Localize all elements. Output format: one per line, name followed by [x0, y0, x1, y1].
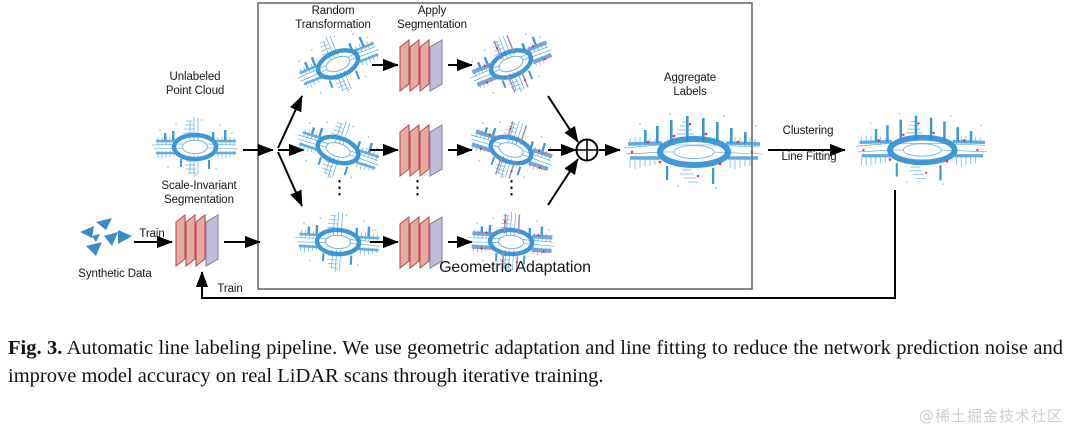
label-clustering: Clustering [772, 125, 844, 139]
segmentation-network-main [176, 215, 218, 266]
arrow-row1-to-sum [548, 96, 578, 142]
ellipsis-network-column: ⋮ [408, 185, 422, 192]
segmentation-network-row1 [400, 40, 442, 91]
label-geometric-adaptation: Geometric Adaptation [370, 261, 660, 275]
arrow-branch-down [278, 152, 302, 206]
unlabeled-point-cloud-thumb [152, 117, 238, 177]
feedback-loop-path [202, 190, 895, 298]
watermark: @稀土掘金技术社区 [919, 405, 1063, 426]
figure-caption: Fig. 3. Automatic line labeling pipeline… [8, 334, 1063, 390]
ellipsis-transform-column: ⋮ [330, 185, 344, 192]
figure-diagram: Unlabeled Point Cloud Scale-Invariant Se… [0, 0, 1071, 310]
label-line-fitting: Line Fitting [770, 151, 848, 165]
label-random-transformation: Random Transformation [278, 5, 388, 32]
figure-number: Fig. 3. [8, 337, 62, 359]
arrow-branch-up [278, 96, 302, 148]
arrow-row3-to-sum [548, 159, 578, 205]
segmentation-network-row2 [400, 125, 442, 176]
caption-text: Automatic line labeling pipeline. We use… [8, 337, 1063, 387]
aggregate-labels-thumb [624, 113, 762, 189]
label-synthetic-data: Synthetic Data [60, 268, 170, 282]
label-train-top: Train [132, 228, 172, 242]
ellipsis-output-column: ⋮ [502, 185, 516, 192]
label-aggregate-labels: Aggregate Labels [640, 72, 740, 99]
label-train-feedback: Train [210, 283, 250, 297]
segmented-cloud-row1 [460, 20, 562, 108]
label-scale-invariant-segmentation: Scale-Invariant Segmentation [140, 180, 258, 207]
synthetic-data-thumb [80, 218, 132, 256]
final-output-thumb [856, 113, 987, 185]
label-unlabeled-point-cloud: Unlabeled Point Cloud [140, 71, 250, 98]
label-apply-segmentation: Apply Segmentation [382, 5, 482, 32]
aggregate-sum-node [577, 140, 598, 161]
